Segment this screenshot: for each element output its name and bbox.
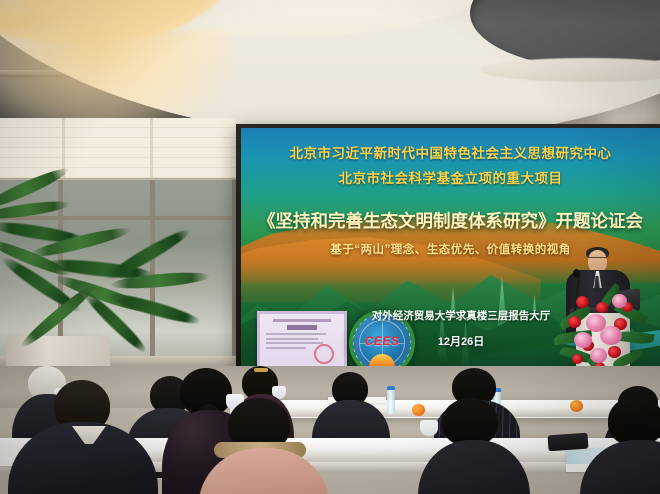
screen-heading-line-2: 北京市社会科学基金立项的重大项目 <box>241 167 660 187</box>
person-head <box>608 396 660 446</box>
screen-heading-line-1: 北京市习近平新时代中国特色社会主义思想研究中心 <box>241 142 660 162</box>
screen-venue-text: 对外经济贸易大学求真楼三层报告大厅 <box>336 308 586 323</box>
microphone-icon <box>573 269 580 278</box>
palm-plant <box>0 160 210 360</box>
phone-device <box>547 433 588 452</box>
person-head <box>442 398 498 446</box>
face-mask <box>420 420 438 436</box>
screen-date-text: 12月26日 <box>336 333 586 349</box>
orange-fruit-b1 <box>412 404 425 416</box>
conference-photo: ← 安全出口 EXIT <box>0 0 660 494</box>
hair-clip-icon <box>254 368 268 372</box>
orange-fruit-b2 <box>570 400 583 412</box>
certificate-thumbnail <box>257 311 347 372</box>
screen-main-title: 《坚持和完善生态文明制度体系研究》开题论证会 <box>241 208 660 233</box>
water-bottle-b2 <box>387 386 395 414</box>
speaker-glasses <box>588 257 607 262</box>
